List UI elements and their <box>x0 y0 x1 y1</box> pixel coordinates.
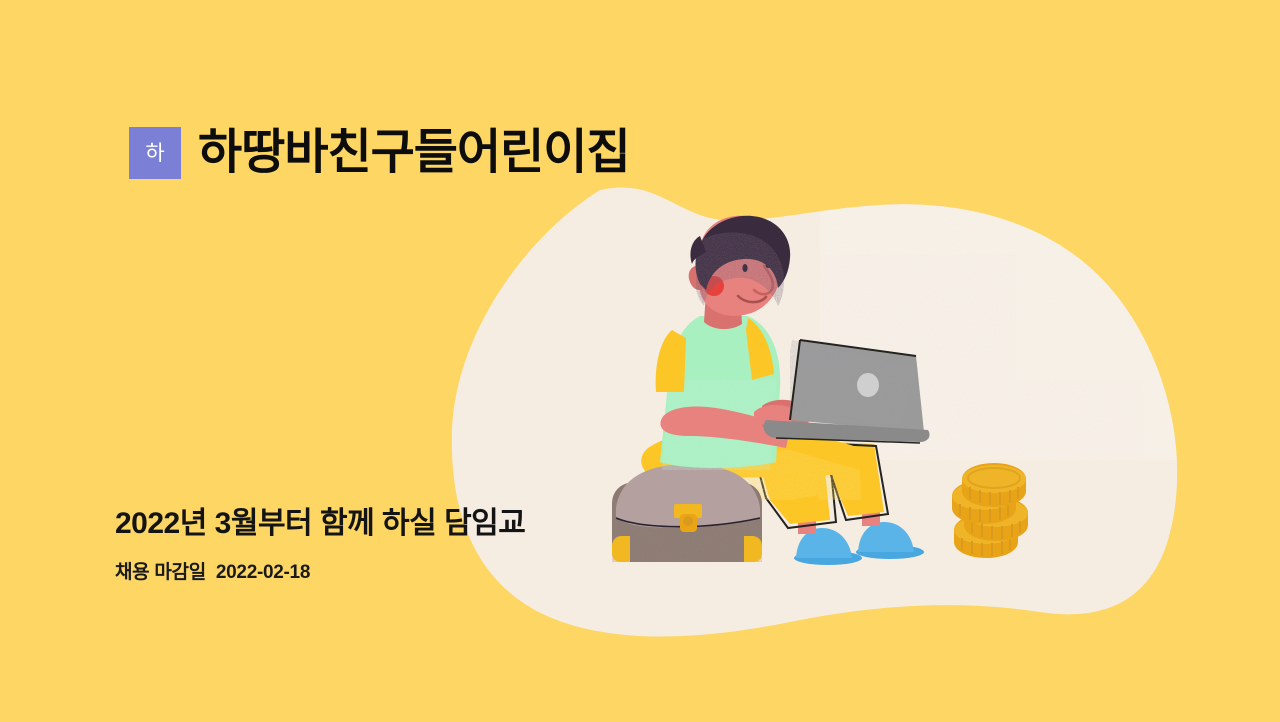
org-name-title: 하땅바친구들어린이집 <box>198 129 630 177</box>
illustration-person-working <box>0 0 1280 722</box>
coin-top <box>962 463 1026 507</box>
deadline-date: 2022-02-18 <box>216 562 310 583</box>
laptop <box>764 340 930 443</box>
torso-shirt <box>656 316 790 475</box>
posting-copy-block: 2022년 3월부터 함께 하실 담임교 채용 마감일2022-02-18 <box>115 505 525 582</box>
head <box>689 216 792 316</box>
poster-header: 하 하땅바친구들어린이집 <box>129 127 630 179</box>
deadline-label: 채용 마감일 <box>115 562 206 583</box>
job-title: 2022년 3월부터 함께 하실 담임교 <box>115 505 525 543</box>
org-logo-badge: 하 <box>129 127 181 179</box>
coin-stack <box>952 463 1028 558</box>
job-posting-poster: 하 하땅바친구들어린이집 2022년 3월부터 함께 하실 담임교 채용 마감일… <box>0 0 1280 722</box>
deadline-line: 채용 마감일2022-02-18 <box>115 563 525 582</box>
org-logo-initial: 하 <box>145 143 164 164</box>
